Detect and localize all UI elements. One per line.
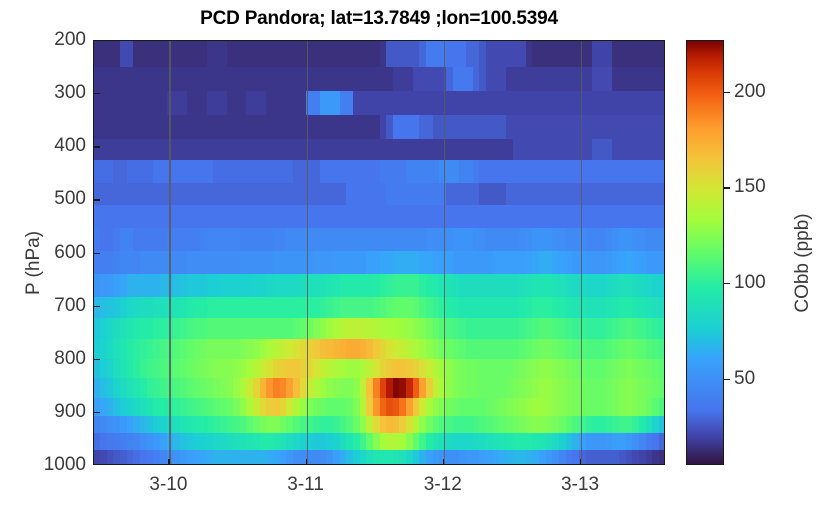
x-axis-tick-mark bbox=[306, 459, 307, 465]
colorbar-tick-label: 100 bbox=[734, 272, 766, 294]
x-gridline bbox=[581, 41, 582, 465]
y-axis-tick-label: 900 bbox=[24, 401, 86, 423]
y-axis-tick-label: 600 bbox=[24, 242, 86, 264]
colorbar-gradient bbox=[687, 41, 724, 465]
x-axis-tick-label: 3-13 bbox=[535, 474, 625, 496]
y-axis-tick-mark bbox=[93, 412, 100, 413]
y-axis-tick-label: 300 bbox=[24, 82, 86, 104]
y-axis-tick-labels: 2003004005006007008009001000 bbox=[12, 0, 86, 521]
heatmap-axes[interactable] bbox=[93, 40, 665, 465]
y-axis-tick-label: 500 bbox=[24, 188, 86, 210]
x-axis-tick-mark bbox=[580, 459, 581, 465]
x-axis-tick-label: 3-12 bbox=[398, 474, 488, 496]
colorbar-tick-label: 50 bbox=[734, 368, 755, 390]
colorbar-tick-mark bbox=[724, 379, 730, 380]
y-axis-tick-mark bbox=[93, 146, 100, 147]
colorbar-tick-label: 150 bbox=[734, 176, 766, 198]
x-gridline bbox=[307, 41, 308, 465]
colorbar-tick-mark bbox=[724, 283, 730, 284]
y-axis-tick-mark bbox=[93, 199, 100, 200]
x-axis-tick-label: 3-10 bbox=[123, 474, 213, 496]
colorbar[interactable] bbox=[686, 40, 724, 465]
y-axis-tick-mark bbox=[93, 359, 100, 360]
x-axis-tick-mark bbox=[443, 459, 444, 465]
y-axis-tick-mark bbox=[93, 253, 100, 254]
y-axis-tick-mark bbox=[93, 306, 100, 307]
colorbar-tick-mark bbox=[724, 92, 730, 93]
matlab-figure: PCD Pandora; lat=13.7849 ;lon=100.5394 P… bbox=[0, 0, 833, 521]
y-axis-tick-label: 800 bbox=[24, 348, 86, 370]
colorbar-tick-label: 200 bbox=[734, 81, 766, 103]
colorbar-tick-mark bbox=[724, 187, 730, 188]
y-axis-tick-label: 400 bbox=[24, 135, 86, 157]
y-axis-tick-mark bbox=[93, 93, 100, 94]
colorbar-label: CObb (ppb) bbox=[792, 183, 814, 343]
page-title: PCD Pandora; lat=13.7849 ;lon=100.5394 bbox=[93, 8, 665, 30]
y-axis-tick-label: 700 bbox=[24, 295, 86, 317]
x-axis-tick-mark bbox=[168, 459, 169, 465]
heatmap-canvas[interactable] bbox=[94, 41, 665, 465]
x-axis-tick-label: 3-11 bbox=[261, 474, 351, 496]
x-gridline bbox=[169, 41, 170, 465]
y-axis-tick-label: 200 bbox=[24, 29, 86, 51]
y-axis-tick-label: 1000 bbox=[24, 454, 86, 476]
x-gridline bbox=[444, 41, 445, 465]
